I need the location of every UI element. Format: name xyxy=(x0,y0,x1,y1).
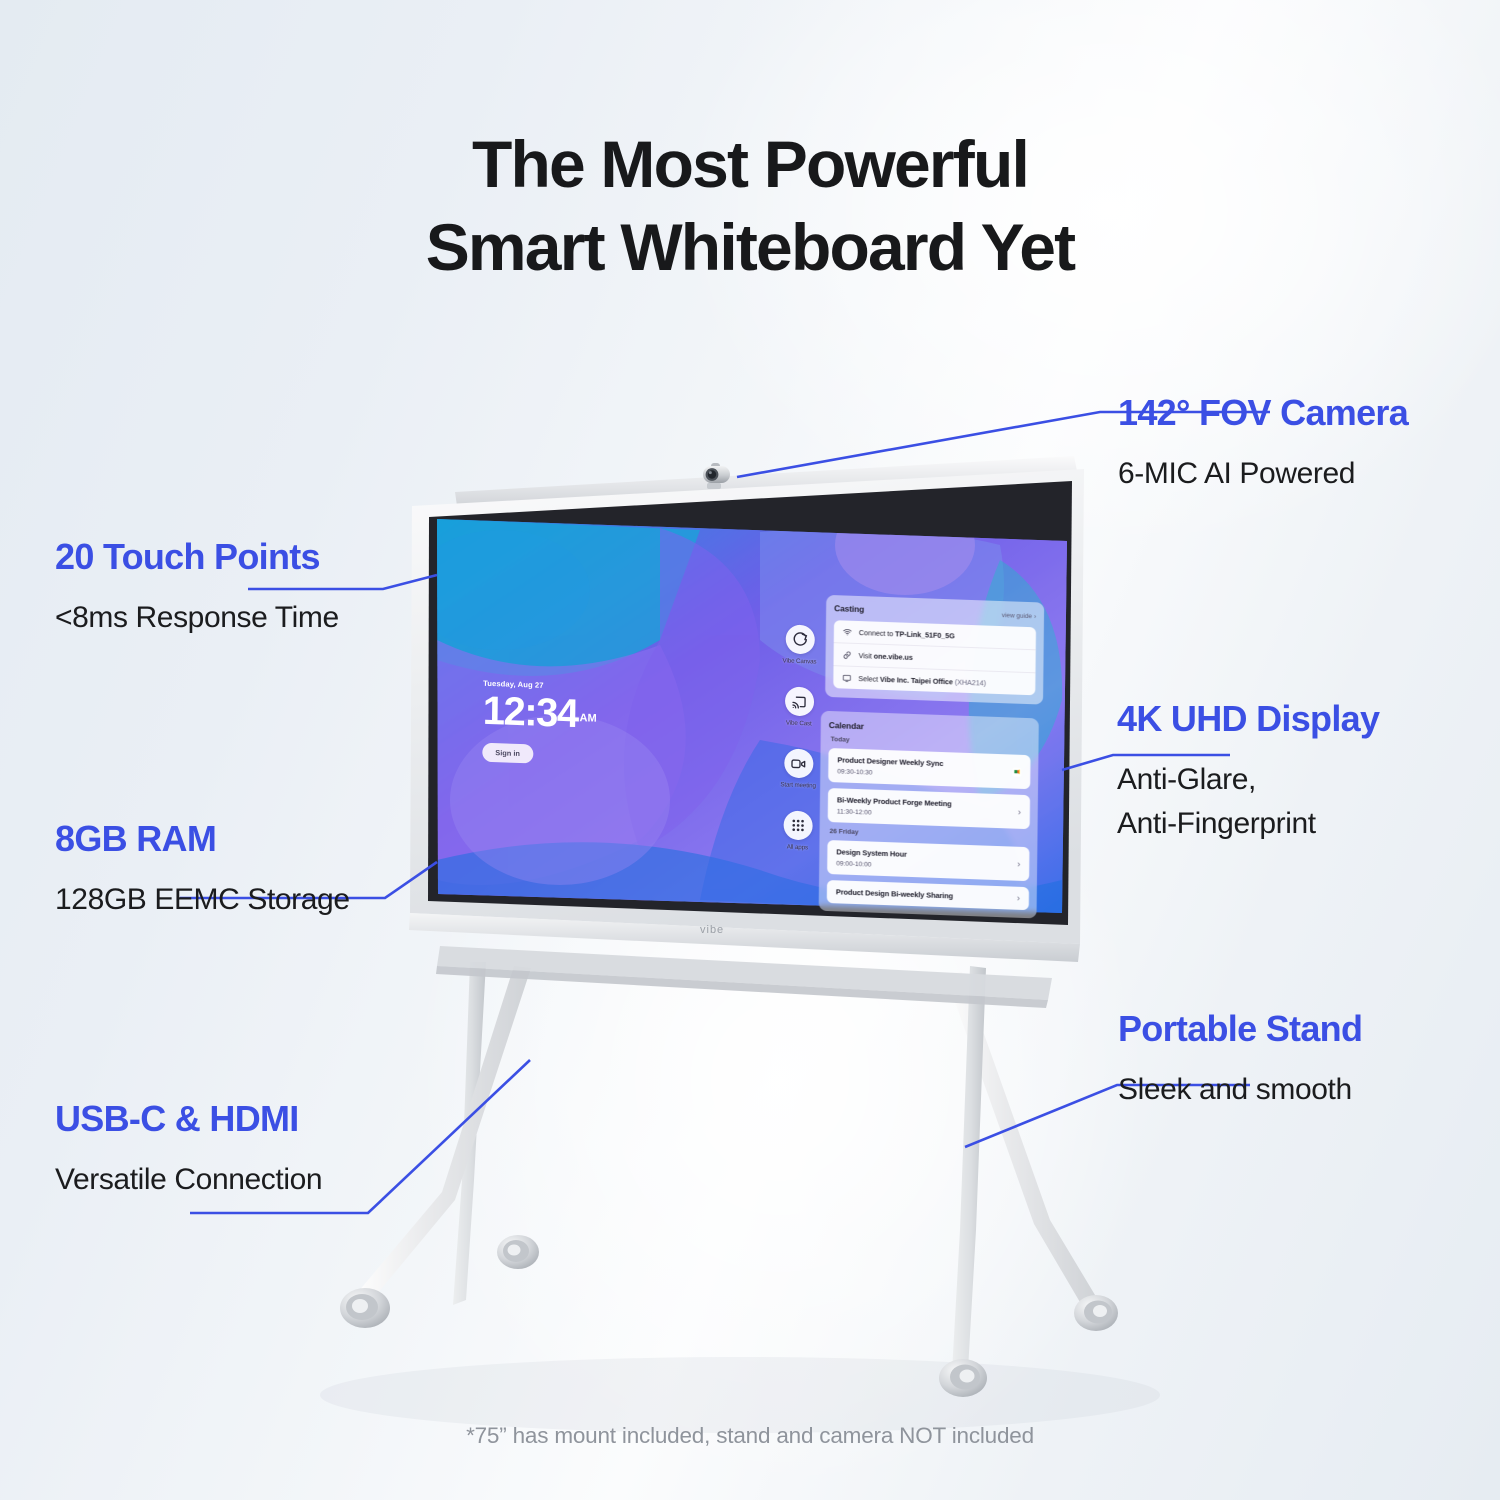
casting-row-wifi-pre: Connect to xyxy=(859,628,895,638)
calendar-event-time: 09:30-10:30 xyxy=(837,768,943,779)
casting-row-url-text: Visit one.vibe.us xyxy=(859,651,913,662)
calendar-event-main: Product Design Bi-weekly Sharing xyxy=(836,887,953,900)
callout-title-ram: 8GB RAM xyxy=(55,818,350,860)
rail-label-start-meeting: Start meeting xyxy=(780,781,816,789)
calendar-event-title: Product Designer Weekly Sync xyxy=(837,755,943,768)
callout-portable-stand: Portable Stand Sleek and smooth xyxy=(1118,1008,1362,1110)
casting-row-url-pre: Visit xyxy=(859,651,874,661)
view-guide-label: view guide xyxy=(1002,612,1032,620)
casting-row-device-pre: Select xyxy=(858,674,880,684)
casting-row-device-name: Vibe Inc. Taipei Office xyxy=(880,674,953,686)
chevron-right-icon[interactable]: › xyxy=(1018,807,1021,816)
calendar-event-main: Product Designer Weekly Sync 09:30-10:30 xyxy=(837,755,943,779)
link-icon xyxy=(843,650,852,659)
calendar-event[interactable]: Product Designer Weekly Sync 09:30-10:30 xyxy=(828,748,1030,789)
monitor-icon xyxy=(842,673,851,682)
calendar-event-time: 09:00-10:00 xyxy=(836,860,907,870)
calendar-event[interactable]: Design System Hour 09:00-10:00 › xyxy=(827,840,1029,881)
view-guide-link[interactable]: view guide › xyxy=(1002,612,1036,620)
callout-touch-points: 20 Touch Points <8ms Response Time xyxy=(55,536,339,638)
rail-label-all-apps: All apps xyxy=(787,844,808,852)
calendar-event-time: 11:30-12:00 xyxy=(837,808,952,819)
casting-panel-header: Casting view guide › xyxy=(834,603,1036,620)
callout-sub-usb-hdmi: Versatile Connection xyxy=(55,1160,322,1200)
stand-legs xyxy=(358,962,1098,1372)
rail-label-vibe-cast: Vibe Cast xyxy=(786,719,812,727)
rail-item-vibe-canvas[interactable]: Vibe Canvas xyxy=(783,624,817,665)
calendar-event[interactable]: Bi-Weekly Product Forge Meeting 11:30-12… xyxy=(828,788,1030,829)
video-camera-icon[interactable] xyxy=(784,748,813,778)
casting-panel[interactable]: Casting view guide › Connect to TP-Link_… xyxy=(825,595,1044,705)
calendar-event-title: Product Design Bi-weekly Sharing xyxy=(836,887,953,900)
casting-row-wifi-ssid: TP-Link_51F0_5G xyxy=(895,629,955,640)
callout-title-fov-camera: 142° FOV Camera xyxy=(1118,392,1408,434)
vibe-canvas-icon[interactable] xyxy=(785,624,814,654)
callout-title-touch-points: 20 Touch Points xyxy=(55,536,339,578)
chevron-right-icon[interactable]: › xyxy=(1017,894,1020,903)
page-stage: The Most Powerful Smart Whiteboard Yet xyxy=(0,0,1500,1500)
google-meet-glyph xyxy=(1013,768,1021,776)
calendar-event-title: Bi-Weekly Product Forge Meeting xyxy=(837,795,952,808)
rail-item-all-apps[interactable]: All apps xyxy=(783,810,812,851)
rail-item-vibe-cast[interactable]: Vibe Cast xyxy=(784,686,813,727)
casting-row-device-code: (XHA214) xyxy=(953,677,986,687)
casting-row-url-value: one.vibe.us xyxy=(874,651,913,661)
callout-title-portable-stand: Portable Stand xyxy=(1118,1008,1362,1050)
rail-item-start-meeting[interactable]: Start meeting xyxy=(780,748,816,789)
calendar-panel[interactable]: Calendar Today Product Designer Weekly S… xyxy=(819,711,1039,919)
casting-title: Casting xyxy=(834,603,864,614)
casting-row-device-text: Select Vibe Inc. Taipei Office (XHA214) xyxy=(858,674,986,688)
callout-sub-touch-points: <8ms Response Time xyxy=(55,598,339,638)
calendar-day-label-today: Today xyxy=(831,736,1031,750)
cast-screen-icon[interactable] xyxy=(784,686,813,716)
callout-sub-portable-stand: Sleek and smooth xyxy=(1118,1070,1362,1110)
callout-fov-camera: 142° FOV Camera 6-MIC AI Powered xyxy=(1118,392,1408,494)
clock-time: 12:34AM xyxy=(483,693,597,734)
clock-time-value: 12:34 xyxy=(483,689,578,736)
calendar-event-title: Design System Hour xyxy=(836,847,907,859)
clock-meridiem: AM xyxy=(580,712,597,725)
calendar-event-main: Design System Hour 09:00-10:00 xyxy=(836,847,907,870)
callout-title-usb-hdmi: USB-C & HDMI xyxy=(55,1098,322,1140)
grid-apps-icon[interactable] xyxy=(783,810,812,840)
casting-options-list[interactable]: Connect to TP-Link_51F0_5G Visit one.vib… xyxy=(833,620,1036,695)
callout-sub-uhd-display-line1: Anti-Glare, xyxy=(1117,760,1379,800)
chevron-right-icon[interactable]: › xyxy=(1017,859,1020,868)
whiteboard-home-screen[interactable]: Tuesday, Aug 27 12:34AM Sign in Vibe Can… xyxy=(432,519,1067,939)
meet-badge-icon[interactable] xyxy=(1012,767,1021,776)
chevron-right-icon: › xyxy=(1034,613,1036,620)
callout-sub-fov-camera: 6-MIC AI Powered xyxy=(1118,454,1408,494)
calendar-event-main: Bi-Weekly Product Forge Meeting 11:30-12… xyxy=(837,795,952,819)
sign-in-button[interactable]: Sign in xyxy=(482,743,533,764)
callout-title-uhd-display: 4K UHD Display xyxy=(1117,698,1379,740)
clock-widget: Tuesday, Aug 27 12:34AM Sign in xyxy=(482,679,597,766)
calendar-event[interactable]: Product Design Bi-weekly Sharing › xyxy=(827,880,1029,910)
callout-sub-ram: 128GB EEMC Storage xyxy=(55,880,350,920)
rail-label-vibe-canvas: Vibe Canvas xyxy=(783,657,817,665)
calendar-title: Calendar xyxy=(829,720,1031,737)
callout-uhd-display: 4K UHD Display Anti-Glare, Anti-Fingerpr… xyxy=(1117,698,1379,843)
callout-usb-hdmi: USB-C & HDMI Versatile Connection xyxy=(55,1098,322,1200)
callout-sub-uhd-display-line2: Anti-Fingerprint xyxy=(1117,804,1379,844)
callout-ram: 8GB RAM 128GB EEMC Storage xyxy=(55,818,350,920)
disclaimer-footnote: *75” has mount included, stand and camer… xyxy=(0,1423,1500,1449)
casting-row-wifi-text: Connect to TP-Link_51F0_5G xyxy=(859,628,955,640)
wifi-icon xyxy=(843,627,852,636)
calendar-day-label-friday: 26 Friday xyxy=(830,828,1030,842)
